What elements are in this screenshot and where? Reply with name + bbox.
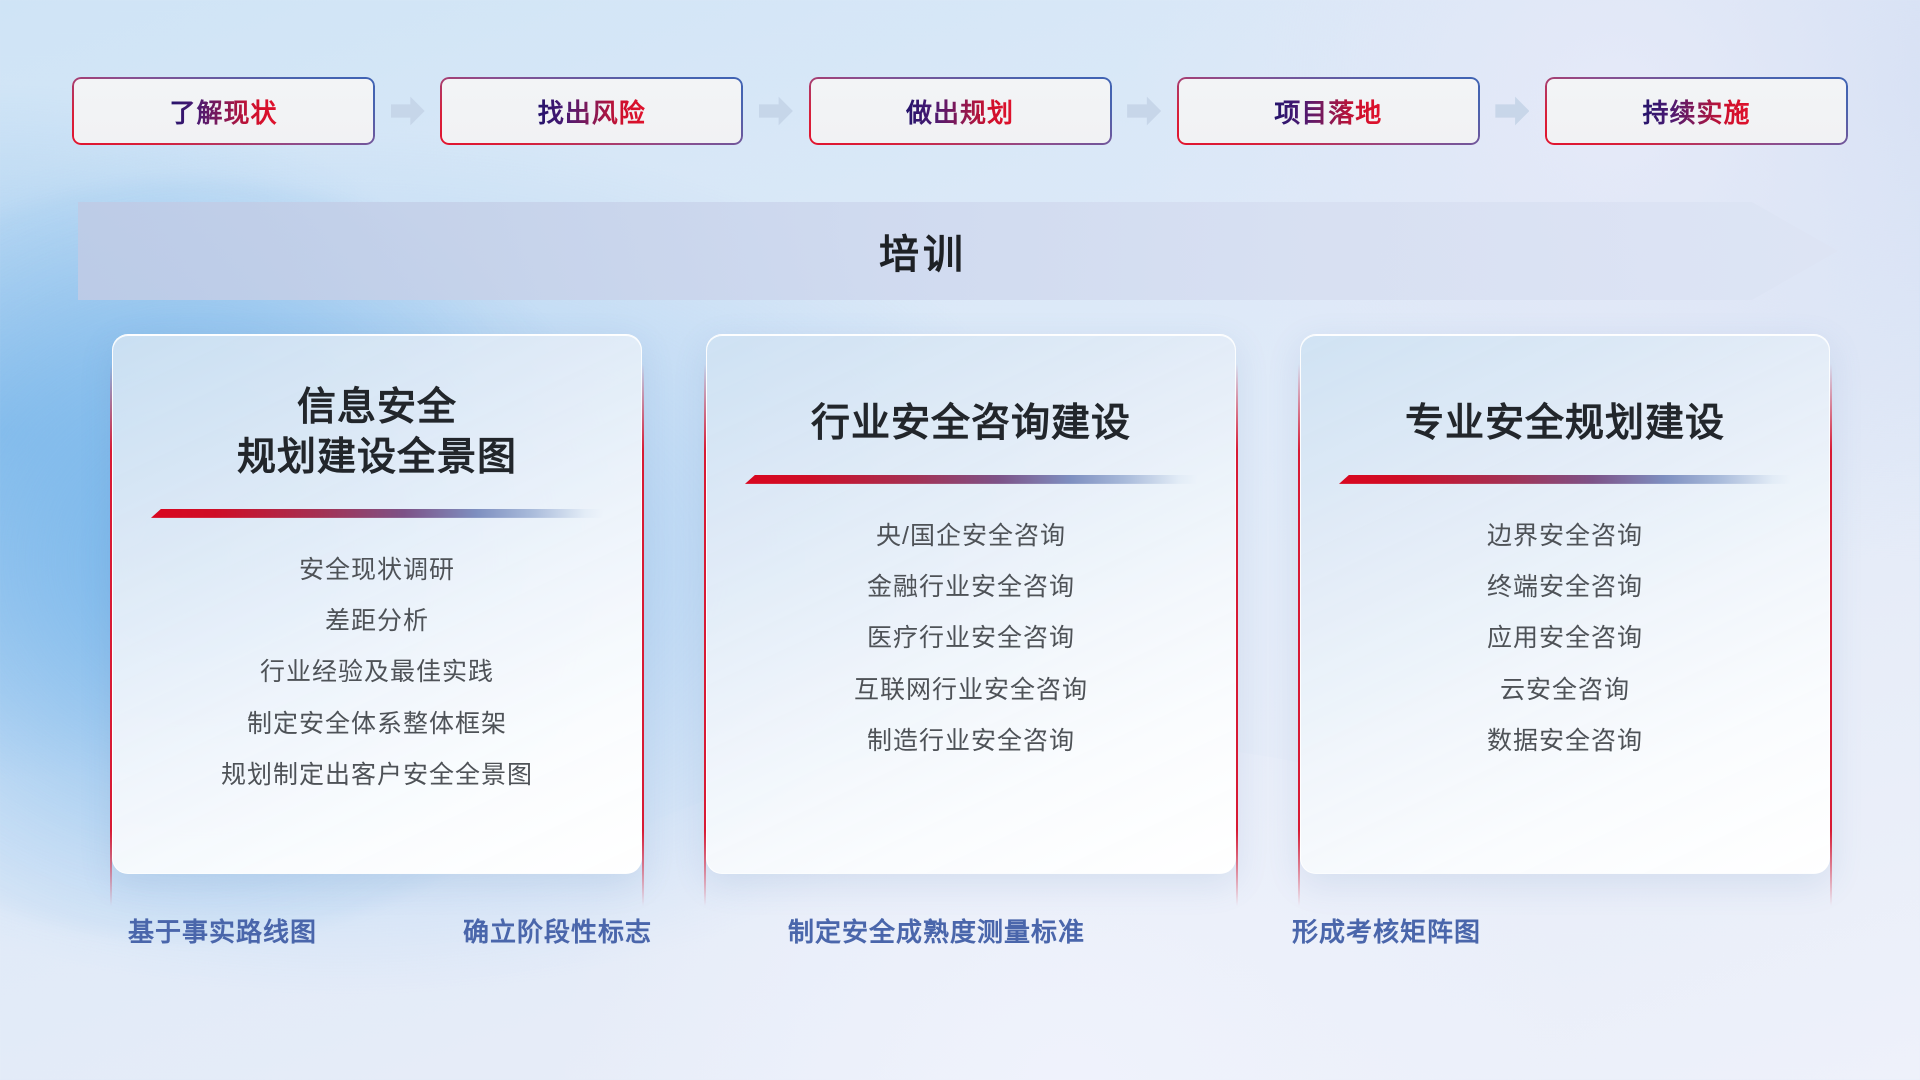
footer-label-2: 确立阶段性标志 <box>463 912 652 949</box>
list-item: 规划制定出客户安全全景图 <box>221 757 533 793</box>
step-arrow-icon-1 <box>391 96 425 126</box>
capability-card-wrap-2: 行业安全咨询建设 央/国企安全咨询 金融行业安全咨询 医疗行业安全咨询 互联网行… <box>704 334 1238 874</box>
list-item: 互联网行业安全咨询 <box>854 672 1088 708</box>
list-item: 制定安全体系整体框架 <box>247 706 507 742</box>
list-item: 金融行业安全咨询 <box>867 569 1075 605</box>
list-item: 制造行业安全咨询 <box>867 723 1075 759</box>
list-item: 应用安全咨询 <box>1487 620 1643 656</box>
capability-card-wrap-1: 信息安全 规划建设全景图 安全现状调研 差距分析 行业经验及最佳实践 制定安全体… <box>110 334 644 874</box>
step-box-1[interactable]: 了解现状 <box>72 77 375 145</box>
step-label-3: 做出规划 <box>906 93 1014 130</box>
step-label-2: 找出风险 <box>538 93 646 130</box>
process-step-row: 了解现状 找出风险 做出规划 项目落地 持续实施 <box>72 76 1848 146</box>
list-item: 安全现状调研 <box>299 552 455 588</box>
capability-card-1[interactable]: 信息安全 规划建设全景图 安全现状调研 差距分析 行业经验及最佳实践 制定安全体… <box>112 334 642 874</box>
capability-card-3[interactable]: 专业安全规划建设 边界安全咨询 终端安全咨询 应用安全咨询 云安全咨询 数据安全… <box>1300 334 1830 874</box>
list-item: 云安全咨询 <box>1500 672 1630 708</box>
training-banner-title: 培训 <box>879 222 967 280</box>
list-item: 边界安全咨询 <box>1487 518 1643 554</box>
list-item: 医疗行业安全咨询 <box>867 620 1075 656</box>
capability-card-list-2: 央/国企安全咨询 金融行业安全咨询 医疗行业安全咨询 互联网行业安全咨询 制造行… <box>735 518 1207 759</box>
list-item: 行业经验及最佳实践 <box>260 654 494 690</box>
card-divider-2 <box>745 475 1197 484</box>
card-divider-3 <box>1339 475 1791 484</box>
step-box-5[interactable]: 持续实施 <box>1545 77 1848 145</box>
step-box-2[interactable]: 找出风险 <box>440 77 743 145</box>
list-item: 数据安全咨询 <box>1487 723 1643 759</box>
step-label-1: 了解现状 <box>169 93 277 130</box>
footer-label-1: 基于事实路线图 <box>128 912 317 949</box>
step-box-3[interactable]: 做出规划 <box>809 77 1112 145</box>
capability-card-list-3: 边界安全咨询 终端安全咨询 应用安全咨询 云安全咨询 数据安全咨询 <box>1329 518 1801 759</box>
capability-card-title-2: 行业安全咨询建设 <box>811 399 1131 449</box>
list-item: 终端安全咨询 <box>1487 569 1643 605</box>
step-box-4[interactable]: 项目落地 <box>1177 77 1480 145</box>
card-divider-1 <box>151 509 603 518</box>
step-arrow-icon-3 <box>1127 96 1161 126</box>
capability-card-title-3: 专业安全规划建设 <box>1405 399 1725 449</box>
footer-label-row: 基于事实路线图 确立阶段性标志 制定安全成熟度测量标准 形成考核矩阵图 <box>0 912 1920 956</box>
capability-card-title-1: 信息安全 规划建设全景图 <box>237 383 517 483</box>
step-label-5: 持续实施 <box>1642 93 1750 130</box>
training-banner-arrow: 培训 <box>78 202 1838 300</box>
footer-label-3: 制定安全成熟度测量标准 <box>788 912 1085 949</box>
capability-card-list-1: 安全现状调研 差距分析 行业经验及最佳实践 制定安全体系整体框架 规划制定出客户… <box>141 552 613 793</box>
step-arrow-icon-4 <box>1495 96 1529 126</box>
step-label-4: 项目落地 <box>1274 93 1382 130</box>
step-arrow-icon-2 <box>759 96 793 126</box>
list-item: 差距分析 <box>325 603 429 639</box>
capability-card-2[interactable]: 行业安全咨询建设 央/国企安全咨询 金融行业安全咨询 医疗行业安全咨询 互联网行… <box>706 334 1236 874</box>
capability-card-wrap-3: 专业安全规划建设 边界安全咨询 终端安全咨询 应用安全咨询 云安全咨询 数据安全… <box>1298 334 1832 874</box>
footer-label-4: 形成考核矩阵图 <box>1292 912 1481 949</box>
capability-card-row: 信息安全 规划建设全景图 安全现状调研 差距分析 行业经验及最佳实践 制定安全体… <box>110 334 1832 874</box>
list-item: 央/国企安全咨询 <box>876 518 1066 554</box>
